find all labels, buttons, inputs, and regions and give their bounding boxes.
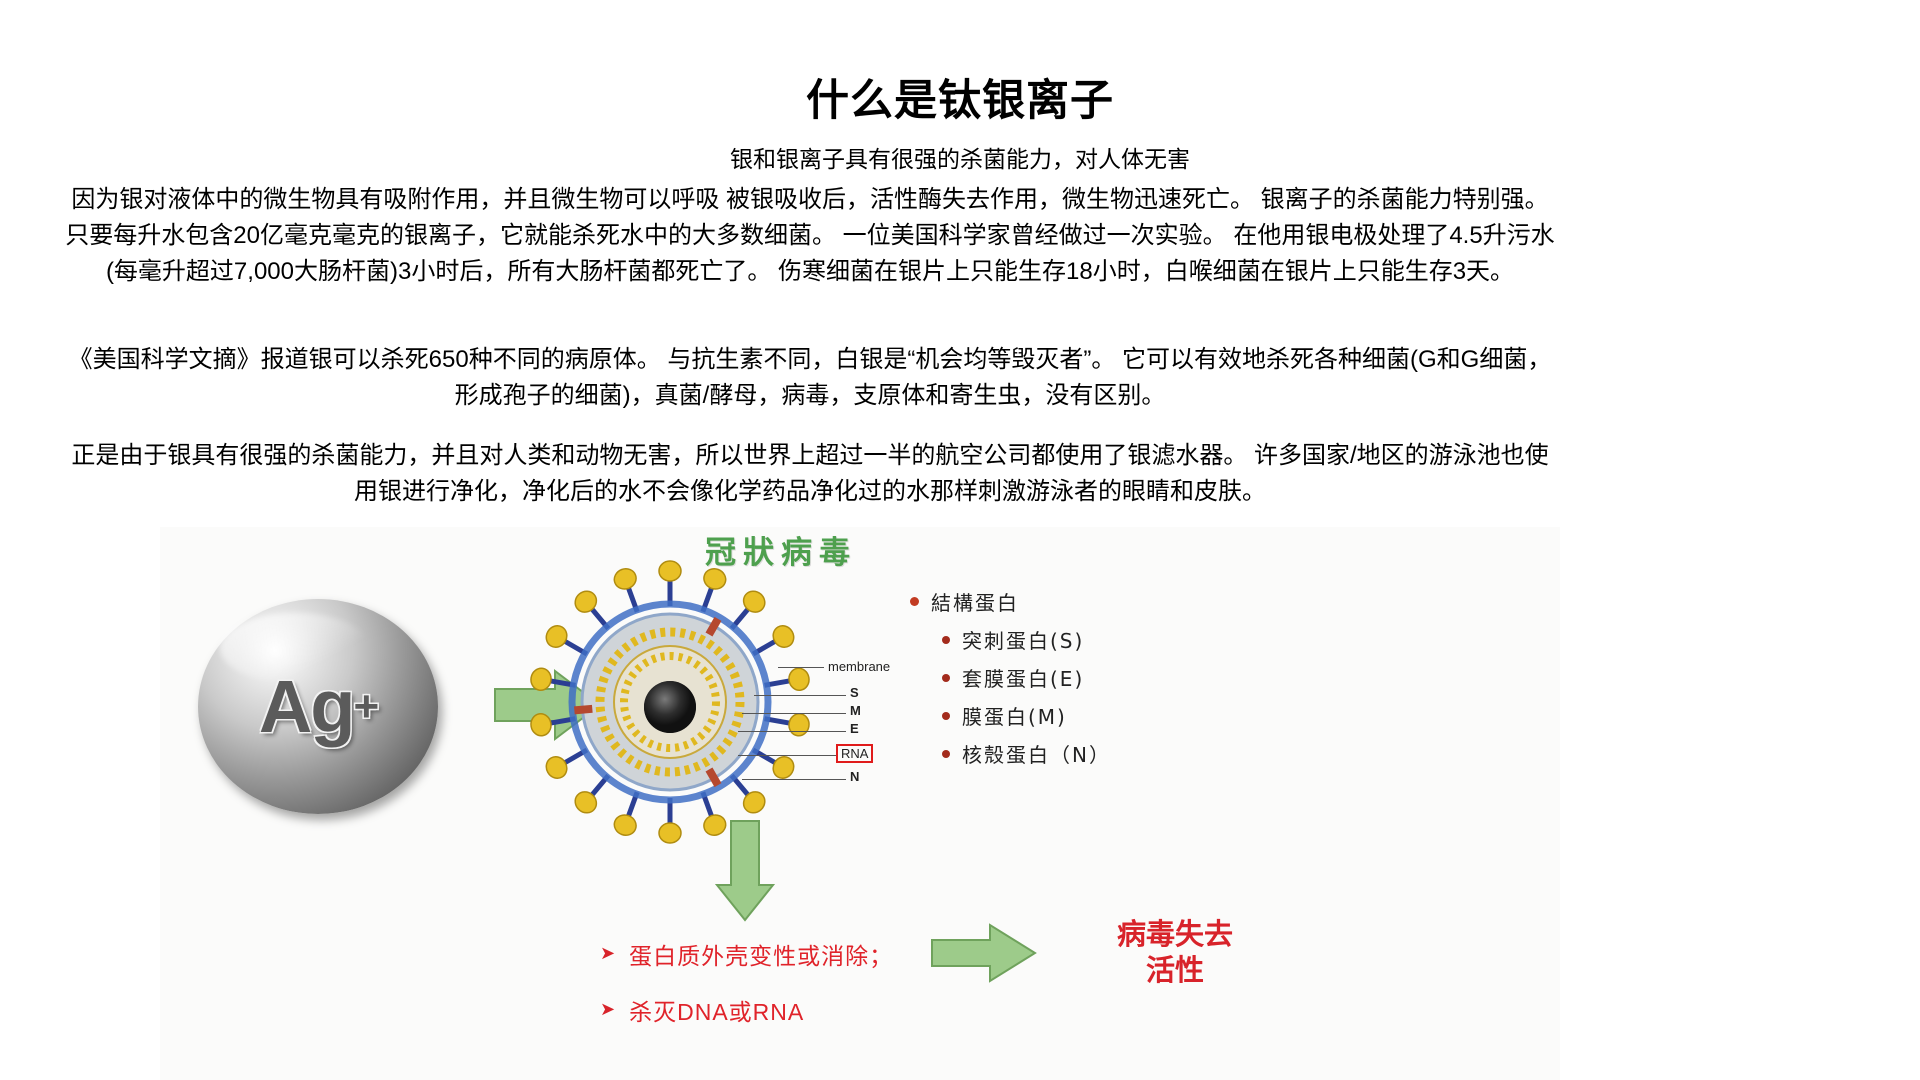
silver-ion-label: Ag+ bbox=[198, 599, 438, 814]
effect-label: 杀灭DNA或RNA bbox=[629, 998, 804, 1028]
legend-dot-icon bbox=[942, 636, 950, 644]
protein-legend: 結構蛋白 突刺蛋白(S) 套膜蛋白(E) 膜蛋白(M) 核殼蛋白（N） bbox=[910, 587, 1230, 777]
page-subtitle: 银和银离子具有很强的杀菌能力，对人体无害 bbox=[0, 145, 1920, 174]
effect-label: 蛋白质外壳变性或消除； bbox=[629, 942, 893, 972]
legend-label: 結構蛋白 bbox=[931, 587, 1019, 616]
paragraph-2: 《美国科学文摘》报道银可以杀死650种不同的病原体。 与抗生素不同，白银是“机会… bbox=[60, 342, 1560, 414]
callout-leader-n bbox=[742, 779, 846, 780]
legend-item: 膜蛋白(M) bbox=[942, 701, 1230, 730]
legend-label: 套膜蛋白(E) bbox=[962, 663, 1084, 692]
callout-rna: RNA bbox=[836, 744, 873, 763]
legend-label: 膜蛋白(M) bbox=[962, 701, 1067, 730]
callout-leader-e bbox=[738, 731, 846, 732]
effect-item: ➤ 杀灭DNA或RNA bbox=[600, 998, 1030, 1028]
paragraph-1: 因为银对液体中的微生物具有吸附作用，并且微生物可以呼吸 被银吸收后，活性酶失去作… bbox=[60, 182, 1560, 290]
bullet-marker-icon: ➤ bbox=[600, 942, 615, 965]
callout-m: M bbox=[850, 703, 861, 718]
bullet-marker-icon: ➤ bbox=[600, 998, 615, 1021]
legend-item: 結構蛋白 bbox=[910, 587, 1230, 616]
legend-dot-icon bbox=[910, 597, 919, 606]
arrow-right-icon bbox=[930, 922, 1038, 984]
legend-label: 核殼蛋白（N） bbox=[962, 739, 1111, 768]
callout-s: S bbox=[850, 685, 859, 700]
callout-leader-rna bbox=[738, 755, 836, 756]
legend-item: 突刺蛋白(S) bbox=[942, 625, 1230, 654]
slide-page: 什么是钛银离子 银和银离子具有很强的杀菌能力，对人体无害 因为银对液体中的微生物… bbox=[0, 0, 1920, 1080]
virus-title: 冠狀病毒 bbox=[705, 527, 857, 572]
result-text: 病毒失去 活性 bbox=[1065, 917, 1285, 990]
silver-ion-charge: + bbox=[353, 682, 377, 732]
legend-item: 套膜蛋白(E) bbox=[942, 663, 1230, 692]
page-title: 什么是钛银离子 bbox=[0, 78, 1920, 125]
arrow-down-icon bbox=[715, 819, 775, 923]
mechanism-figure: Ag+ bbox=[160, 527, 1560, 1080]
legend-dot-icon bbox=[942, 712, 950, 720]
callout-leader-s bbox=[754, 695, 846, 696]
callout-e: E bbox=[850, 721, 859, 736]
legend-item: 核殼蛋白（N） bbox=[942, 739, 1230, 768]
coronavirus-illustration bbox=[515, 552, 825, 852]
callout-membrane: membrane bbox=[828, 659, 890, 674]
silver-ion-symbol: Ag bbox=[259, 664, 354, 749]
callout-n: N bbox=[850, 769, 859, 784]
silver-ion-sphere: Ag+ bbox=[198, 599, 438, 814]
legend-dot-icon bbox=[942, 750, 950, 758]
legend-dot-icon bbox=[942, 674, 950, 682]
callout-leader-membrane bbox=[778, 667, 824, 668]
result-line-2: 活性 bbox=[1065, 953, 1285, 989]
callout-leader-m bbox=[742, 713, 846, 714]
paragraph-3: 正是由于银具有很强的杀菌能力，并且对人类和动物无害，所以世界上超过一半的航空公司… bbox=[60, 438, 1560, 510]
legend-label: 突刺蛋白(S) bbox=[962, 625, 1084, 654]
result-line-1: 病毒失去 bbox=[1065, 917, 1285, 953]
